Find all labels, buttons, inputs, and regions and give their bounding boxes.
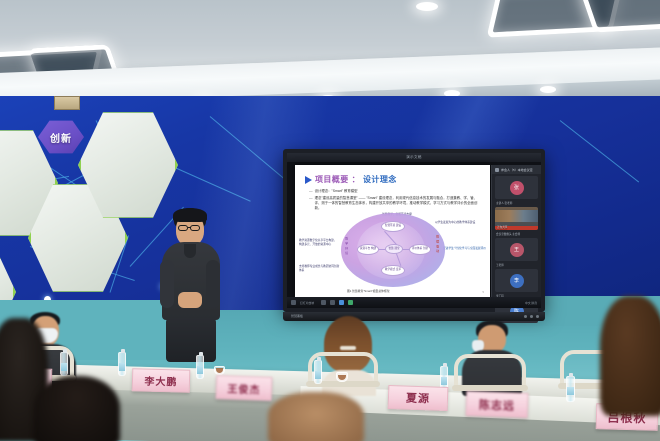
water-bottle xyxy=(118,352,126,376)
slide-bullets: — 设计理念："Smart" 教育模型 — 理念"建设高质量的智慧课堂" —— … xyxy=(309,189,481,213)
taskbar-left-label: 幻灯片放映 xyxy=(300,301,314,305)
hair-clip xyxy=(340,346,356,350)
slide-title-separator: ： xyxy=(352,174,360,185)
presenter-trousers xyxy=(166,318,216,362)
diagram-node-top: 智慧环境 建设 xyxy=(381,221,405,232)
innovation-badge-label: 创新 xyxy=(50,130,72,145)
innovation-badge: 创新 xyxy=(38,120,84,154)
slide-bullet: — 设计理念："Smart" 教育模型 xyxy=(309,189,481,194)
slide-note-left: 教学资源数字化共享平台构建，构建多元、开放的资源中心 xyxy=(299,239,339,247)
network-line xyxy=(150,156,251,202)
slide-title-secondary: 设计理念 xyxy=(363,174,397,185)
network-line xyxy=(96,120,139,200)
slide-page-number: 5 xyxy=(483,291,484,294)
nameplate-5-label: 陈志远 xyxy=(479,396,516,413)
conference-room-photo: 创新 演示文稿 项目概要 ： 设计理念 xyxy=(0,0,660,441)
bullet-text: 设计理念："Smart" 教育模型 xyxy=(315,189,358,194)
foreground-head-right xyxy=(600,296,660,416)
volume-icon[interactable] xyxy=(530,315,533,318)
presenter-right-arm xyxy=(206,260,220,308)
sharing-badge: 正在共享 xyxy=(497,225,507,229)
slide-title-primary: 项目概要 xyxy=(315,174,349,185)
downlight-6 xyxy=(540,86,556,93)
downlight-1 xyxy=(416,2,438,11)
smartboard-brand: 智慧黑板 xyxy=(291,314,303,318)
hex-panel-right xyxy=(78,110,178,220)
network-line xyxy=(30,246,135,281)
participant-name: 会议室摄像头 主会场 xyxy=(496,232,537,236)
presentation-slide[interactable]: 项目概要 ： 设计理念 — 设计理念："Smart" 教育模型 — 理念"建设高… xyxy=(295,165,490,298)
water-bottle xyxy=(196,355,204,379)
diagram-node-bottom: 教学模式 变革 xyxy=(381,265,405,276)
diagram-node-right: 评价体系 创新 xyxy=(409,244,431,255)
nameplate-3-label: 王俊杰 xyxy=(227,380,261,396)
diagram-node-center: 智慧 课堂 xyxy=(385,244,403,254)
nameplate-5: 陈志远 xyxy=(466,391,529,418)
water-bottle xyxy=(60,352,68,376)
bullet-text: 理念"建设高质量的智慧课堂" —— "Smart" 建设理念，利用现代信息技术的… xyxy=(315,196,481,211)
diagram-side-label-left: 教 学 环 境 xyxy=(344,237,348,263)
nameplate-2-label: 李大鹏 xyxy=(144,373,177,389)
water-bottle xyxy=(566,376,575,402)
participant-tile[interactable]: 李 xyxy=(495,269,538,292)
conference-participants-panel[interactable]: 参会人（5）本地会议室 张 主讲人 张老师 正在共享 会议室摄像头 主会场 王 … xyxy=(491,165,541,297)
nameplate-4-label: 夏源 xyxy=(406,390,431,407)
network-line xyxy=(110,235,129,292)
diagram-side-label-right: 数 据 驱 动 xyxy=(435,235,439,265)
hex-panel-center xyxy=(28,182,128,294)
smartboard-controls[interactable] xyxy=(524,315,539,318)
participant-tile[interactable]: 王 xyxy=(495,238,538,261)
slide-note-right-lower: 促进学生个性化学习与全面发展评价 xyxy=(443,247,487,251)
glasses-right-lens xyxy=(190,225,200,231)
water-bottle xyxy=(314,360,322,384)
network-line xyxy=(10,140,110,208)
app-icon[interactable] xyxy=(330,300,335,305)
slide-footer-caption: 图1 智慧教育"Smart"模型总体框架 xyxy=(347,289,390,293)
tea-cup xyxy=(214,366,225,375)
meeting-app-icon[interactable] xyxy=(348,300,353,305)
diagram-node-left: 资源平台 构建 xyxy=(357,244,379,255)
participant-tile[interactable]: 张 xyxy=(495,176,538,199)
slide-title: 项目概要 ： 设计理念 xyxy=(305,174,397,185)
presenter-hair-top xyxy=(173,208,207,222)
hex-panel-left xyxy=(0,128,58,238)
foreground-head-left-2 xyxy=(34,376,120,441)
power-icon[interactable] xyxy=(524,315,527,318)
people-icon xyxy=(495,168,499,172)
tea-cup xyxy=(336,372,348,382)
screen-content: 项目概要 ： 设计理念 — 设计理念："Smart" 教育模型 — 理念"建设高… xyxy=(287,162,541,297)
presenter-left-arm xyxy=(160,260,174,308)
participant-name: 主讲人 张老师 xyxy=(496,201,537,205)
taskbar[interactable]: 幻灯片放映 中文 拼音 xyxy=(287,297,541,308)
source-icon[interactable] xyxy=(536,315,539,318)
slide-note-left-lower: 支持教师专业成长与教研协同创新体系 xyxy=(299,265,341,273)
presenter-hands xyxy=(178,292,202,308)
avatar: 张 xyxy=(510,181,524,195)
network-node xyxy=(138,158,143,163)
participant-name: 王老师 xyxy=(496,263,537,267)
network-line xyxy=(6,146,139,217)
slide-bullet: — 理念"建设高质量的智慧课堂" —— "Smart" 建设理念，利用现代信息技… xyxy=(309,196,481,211)
nameplate-3: 王俊杰 xyxy=(216,375,273,401)
nameplate-2: 李大鹏 xyxy=(132,368,191,393)
polo-collar xyxy=(184,244,196,258)
presenter xyxy=(160,208,222,358)
avatar: 李 xyxy=(510,274,524,288)
glasses-bridge xyxy=(188,227,191,228)
glasses-left-lens xyxy=(178,225,188,231)
participant-tile-video[interactable]: 正在共享 xyxy=(495,207,538,230)
taskbar-right-label: 中文 拼音 xyxy=(525,301,537,305)
bullet-dash: — xyxy=(309,189,313,194)
browser-icon[interactable] xyxy=(339,300,344,305)
slide-note-top-right: 以学生发展为中心的教学体系建设 xyxy=(435,221,487,225)
triangle-bullet-icon xyxy=(305,176,312,184)
avatar: 王 xyxy=(510,243,524,257)
smartboard-display[interactable]: 演示文稿 项目概要 ： 设计理念 — 设计理念："Smart" 教育模型 xyxy=(283,149,545,312)
participants-header-title: 参会人（5）本地会议室 xyxy=(501,168,533,172)
wall-speaker-box xyxy=(54,96,80,110)
window-title: 演示文稿 xyxy=(406,155,422,160)
window-titlebar: 演示文稿 xyxy=(287,153,541,162)
nameplate-4: 夏源 xyxy=(388,385,449,411)
app-icon[interactable] xyxy=(321,300,326,305)
participants-panel-header: 参会人（5）本地会议室 xyxy=(492,165,541,174)
chair xyxy=(454,354,526,390)
windows-start-icon[interactable] xyxy=(291,300,296,305)
video-feed xyxy=(495,210,538,222)
bullet-dash: — xyxy=(309,196,313,211)
foreground-head-center xyxy=(268,392,364,441)
network-line xyxy=(560,120,639,182)
network-line xyxy=(0,176,69,189)
